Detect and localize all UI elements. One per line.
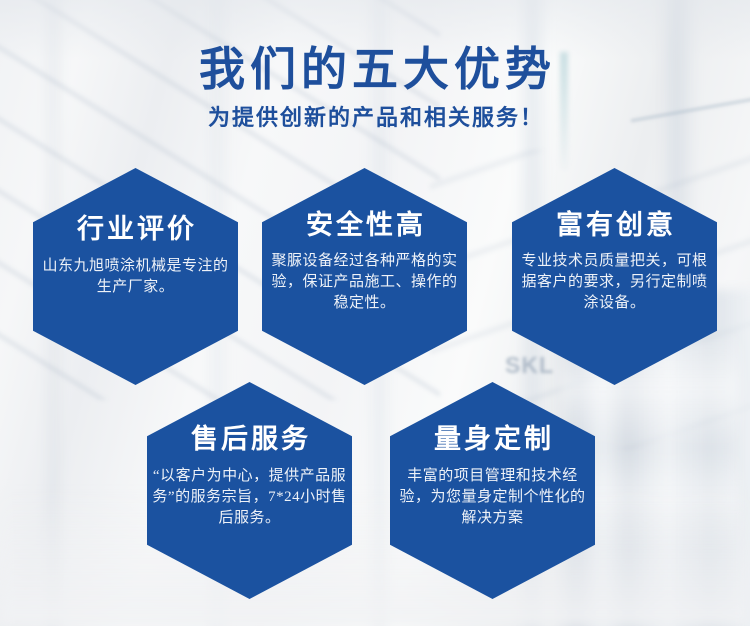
background-floor: [0, 486, 750, 626]
page-title: 我们的五大优势: [0, 44, 750, 96]
advantage-body-1: 山东九旭喷涂机械是专注的生产厂家。: [33, 244, 238, 298]
advantage-body-5: 丰富的项目管理和技术经验，为您量身定制个性化的解决方案: [390, 454, 595, 529]
advantage-body-2: 聚脲设备经过各种严格的实验，保证产品施工、操作的稳定性。: [262, 240, 467, 314]
advantage-body-4: “以客户为中心，提供产品服务”的服务宗旨，7*24小时售后服务。: [147, 454, 352, 529]
advantage-body-3: 专业技术员质量把关，可根据客户的要求，另行定制喷涂设备。: [512, 240, 717, 314]
advantages-banner: SKL 我们的五大优势 为提供创新的产品和相关服务！ 行业评价 山东九旭喷涂机械…: [0, 0, 750, 626]
heading-block: 我们的五大优势 为提供创新的产品和相关服务！: [0, 44, 750, 131]
page-subtitle: 为提供创新的产品和相关服务！: [0, 105, 750, 131]
brand-watermark: SKL: [505, 352, 554, 379]
